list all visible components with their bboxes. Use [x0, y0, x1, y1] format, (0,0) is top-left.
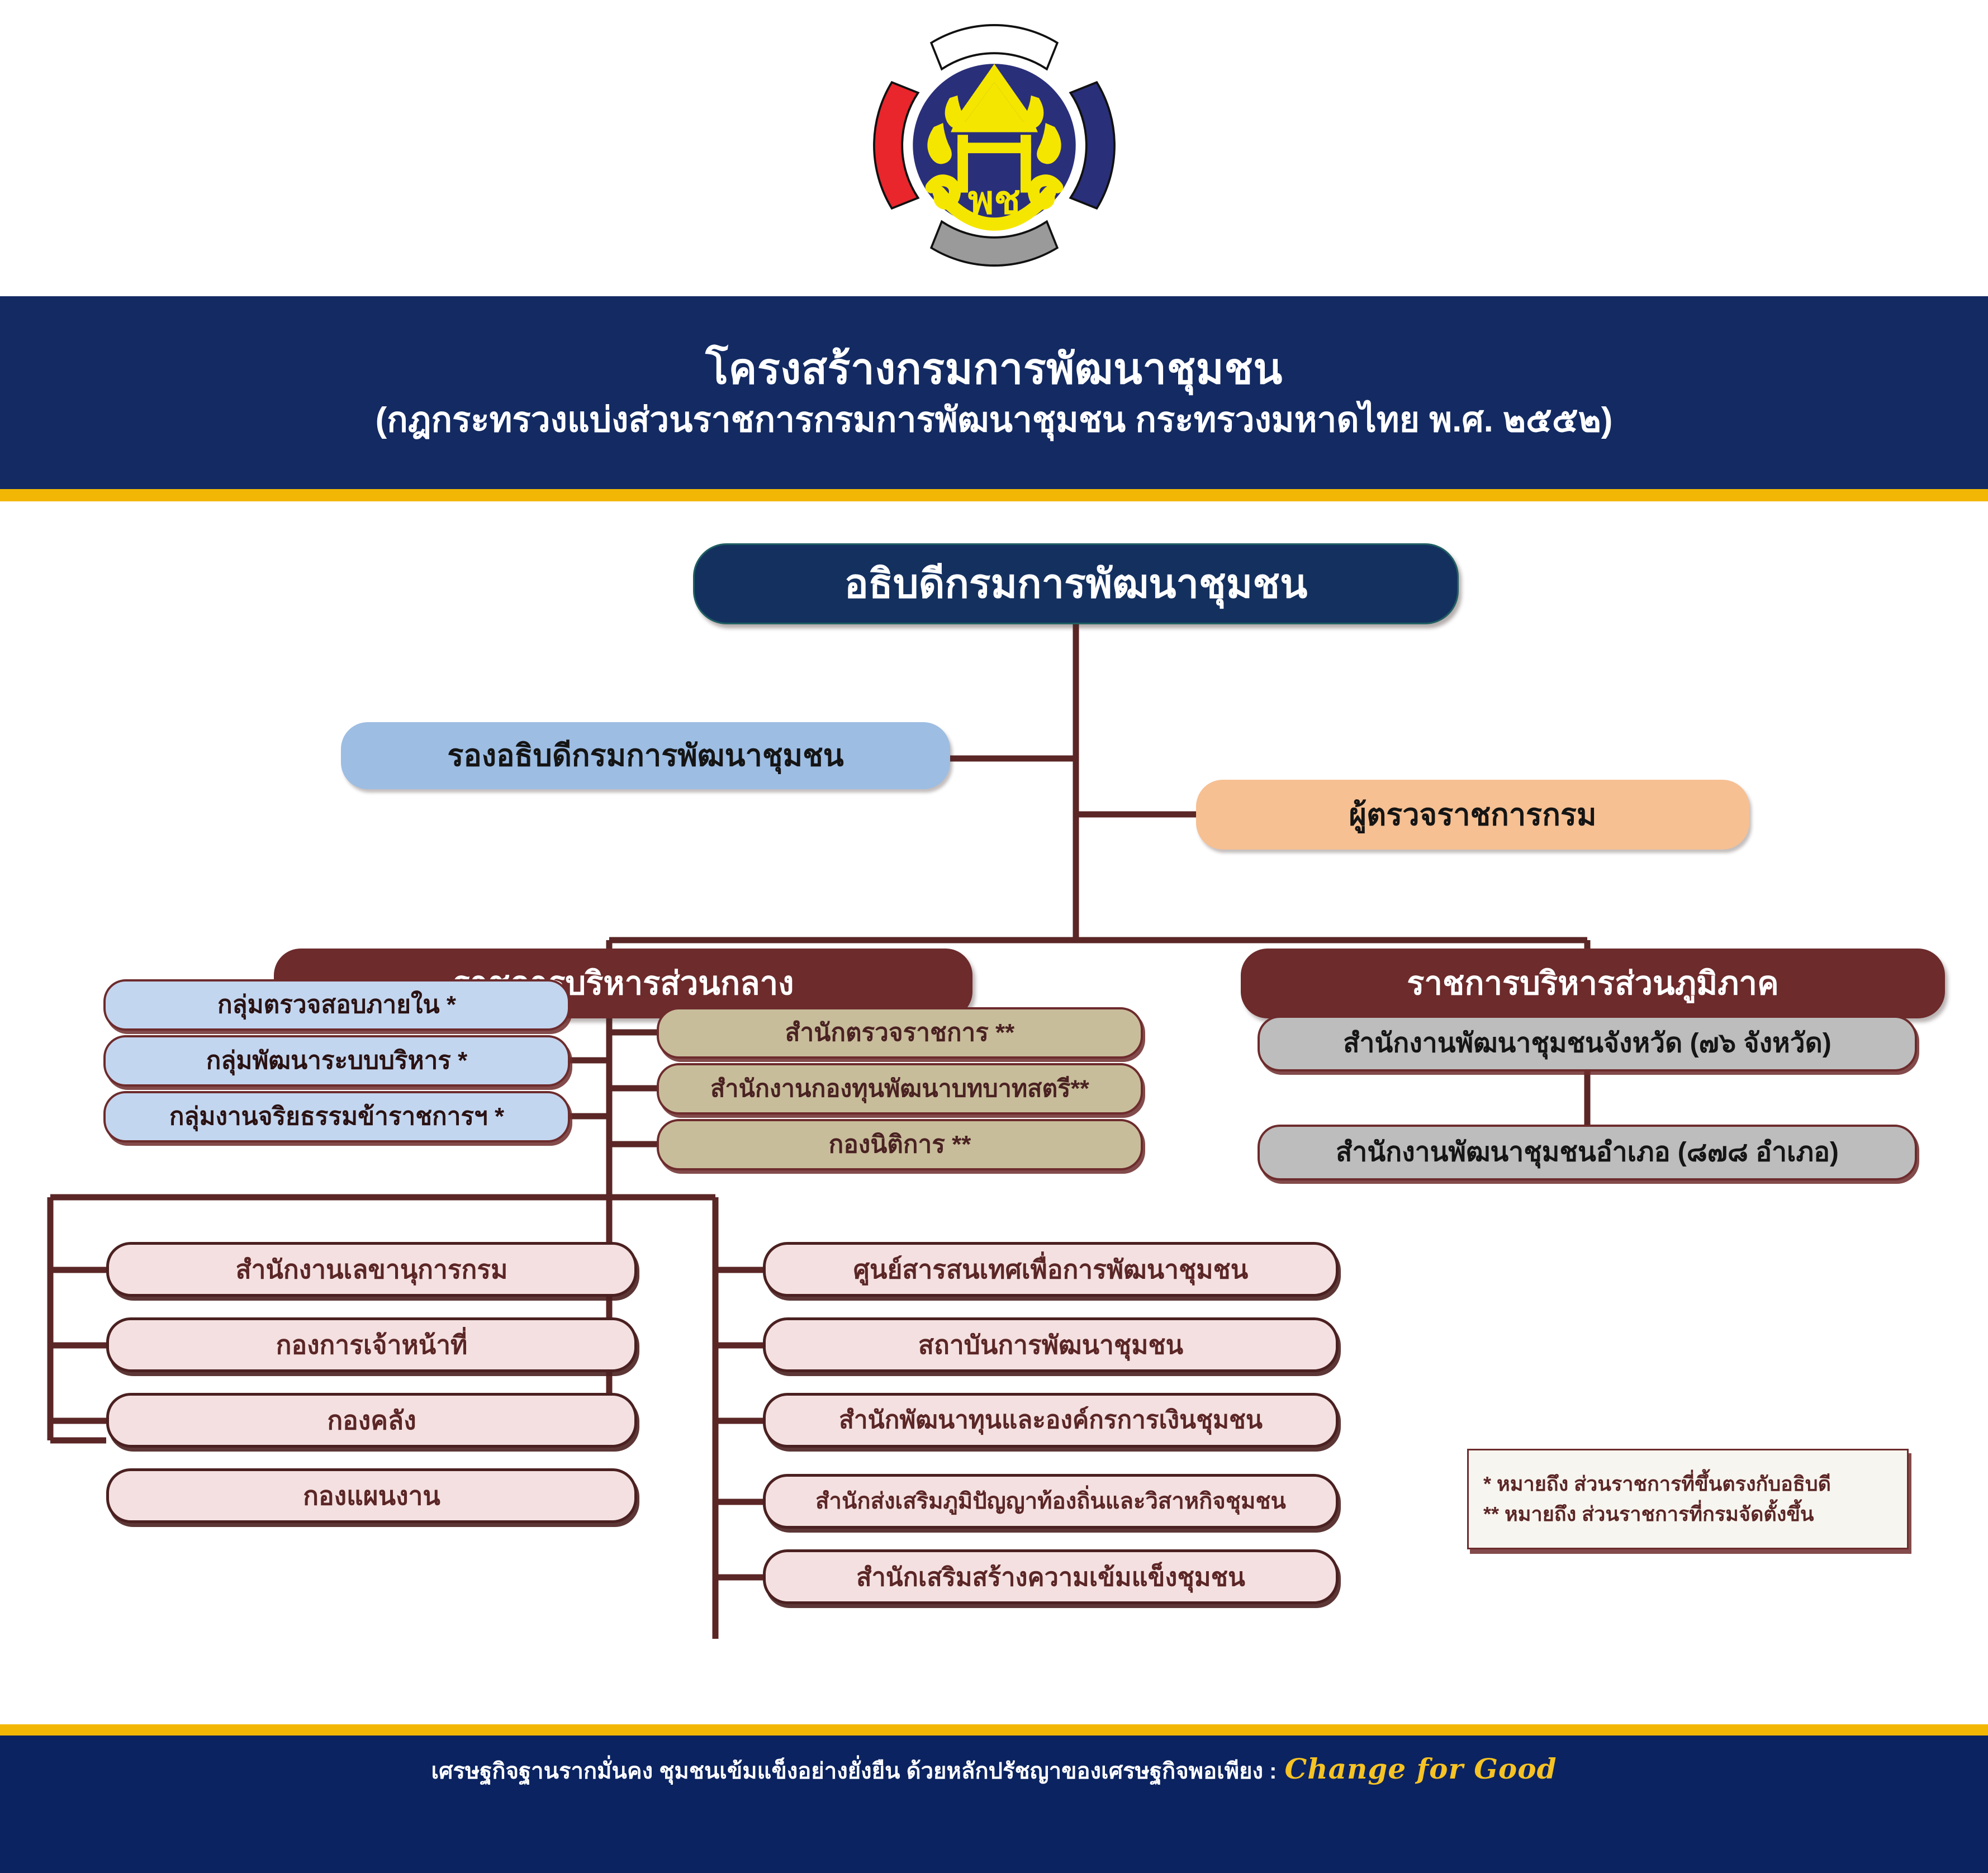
legend-line-double-asterisk: ** หมายถึง ส่วนราชการที่กรมจัดตั้งขึ้น	[1483, 1499, 1814, 1529]
node-civil-servant-ethics-group[interactable]: กลุ่มงานจริยธรรมข้าราชการฯ *	[103, 1091, 570, 1142]
node-information-center-for-cd-label: ศูนย์สารสนเทศเพื่อการพัฒนาชุมชน	[853, 1256, 1248, 1282]
page-title: โครงสร้างกรมการพัฒนาชุมชน	[705, 347, 1283, 392]
node-bureau-of-inspection[interactable]: สำนักตรวจราชการ **	[657, 1007, 1143, 1059]
node-inspector-label: ผู้ตรวจราชการกรม	[1349, 800, 1597, 830]
footer-gold-rule	[0, 1724, 1988, 1736]
node-director-general[interactable]: อธิบดีกรมการพัฒนาชุมชน	[693, 543, 1459, 624]
header-gold-rule	[0, 489, 1988, 501]
node-community-development-institute-label: สถาบันการพัฒนาชุมชน	[918, 1332, 1183, 1358]
svg-text:พช: พช	[967, 177, 1020, 223]
node-deputy-director-general[interactable]: รองอธิบดีกรมการพัฒนาชุมชน	[341, 722, 950, 789]
node-bureau-of-capital-and-community-finance[interactable]: สำนักพัฒนาทุนและองค์กรการเงินชุมชน	[763, 1393, 1339, 1448]
node-community-development-institute[interactable]: สถาบันการพัฒนาชุมชน	[763, 1317, 1339, 1372]
node-provincial-cdd-office-label: สำนักงานพัฒนาชุมชนจังหวัด (๗๖ จังหวัด)	[1343, 1030, 1832, 1057]
node-director-general-label: อธิบดีกรมการพัฒนาชุมชน	[844, 564, 1308, 604]
node-womens-empowerment-fund-office-label: สำนักงานกองทุนพัฒนาบทบาทสตรี**	[710, 1077, 1089, 1101]
node-admin-system-development-group[interactable]: กลุ่มพัฒนาระบบบริหาร *	[103, 1035, 570, 1087]
org-chart-page: พช โครงสร้างกรมการพัฒนาชุมชน (กฎกระทรวงแ…	[0, 0, 1988, 1873]
node-planning-division[interactable]: กองแผนงาน	[106, 1468, 637, 1523]
node-bureau-of-local-wisdom-and-community-enterprise[interactable]: สำนักส่งเสริมภูมิปัญญาท้องถิ่นและวิสาหกิ…	[763, 1474, 1339, 1529]
node-bureau-of-community-strengthening[interactable]: สำนักเสริมสร้างความเข้มแข็งชุมชน	[763, 1549, 1339, 1604]
footer-motto: เศรษฐกิจฐานรากมั่นคง ชุมชนเข้มแข็งอย่างย…	[431, 1753, 1277, 1789]
node-office-of-the-secretary[interactable]: สำนักงานเลขานุการกรม	[106, 1242, 637, 1297]
node-district-cdd-office[interactable]: สำนักงานพัฒนาชุมชนอำเภอ (๘๗๘ อำเภอ)	[1258, 1125, 1917, 1180]
department-logo: พช	[0, 6, 1988, 285]
node-office-of-the-secretary-label: สำนักงานเลขานุการกรม	[236, 1256, 508, 1282]
node-provincial-cdd-office[interactable]: สำนักงานพัฒนาชุมชนจังหวัด (๗๖ จังหวัด)	[1258, 1016, 1917, 1071]
legend-box: * หมายถึง ส่วนราชการที่ขึ้นตรงกับอธิบดี …	[1467, 1449, 1909, 1549]
node-internal-audit-group-label: กลุ่มตรวจสอบภายใน *	[217, 993, 456, 1017]
node-legal-affairs-division[interactable]: กองนิติการ **	[657, 1119, 1143, 1170]
node-district-cdd-office-label: สำนักงานพัฒนาชุมชนอำเภอ (๘๗๘ อำเภอ)	[1336, 1139, 1839, 1166]
node-branch-provincial-label: ราชการบริหารส่วนภูมิภาค	[1407, 968, 1779, 1000]
footer-content: เศรษฐกิจฐานรากมั่นคง ชุมชนเข้มแข็งอย่างย…	[431, 1752, 1557, 1789]
node-civil-servant-ethics-group-label: กลุ่มงานจริยธรรมข้าราชการฯ *	[169, 1104, 504, 1129]
node-bureau-of-inspection-label: สำนักตรวจราชการ **	[785, 1021, 1015, 1045]
page-subtitle: (กฎกระทรวงแบ่งส่วนราชการกรมการพัฒนาชุมชน…	[376, 402, 1613, 438]
node-personnel-division[interactable]: กองการเจ้าหน้าที่	[106, 1317, 637, 1372]
node-womens-empowerment-fund-office[interactable]: สำนักงานกองทุนพัฒนาบทบาทสตรี**	[657, 1063, 1143, 1115]
page-header-banner: โครงสร้างกรมการพัฒนาชุมชน (กฎกระทรวงแบ่ง…	[0, 296, 1988, 489]
legend-line-single-asterisk: * หมายถึง ส่วนราชการที่ขึ้นตรงกับอธิบดี	[1483, 1469, 1831, 1499]
node-branch-provincial-administration[interactable]: ราชการบริหารส่วนภูมิภาค	[1241, 949, 1945, 1018]
page-footer-banner: เศรษฐกิจฐานรากมั่นคง ชุมชนเข้มแข็งอย่างย…	[0, 1736, 1988, 1873]
node-information-center-for-cd[interactable]: ศูนย์สารสนเทศเพื่อการพัฒนาชุมชน	[763, 1242, 1339, 1297]
node-admin-system-development-group-label: กลุ่มพัฒนาระบบบริหาร *	[206, 1049, 468, 1073]
node-bureau-of-local-wisdom-and-community-enterprise-label: สำนักส่งเสริมภูมิปัญญาท้องถิ่นและวิสาหกิ…	[815, 1490, 1286, 1512]
node-personnel-division-label: กองการเจ้าหน้าที่	[276, 1332, 468, 1358]
community-development-emblem-icon: พช	[863, 14, 1126, 277]
node-finance-division-label: กองคลัง	[327, 1407, 416, 1433]
node-department-inspector[interactable]: ผู้ตรวจราชการกรม	[1196, 780, 1749, 850]
node-bureau-of-capital-and-community-finance-label: สำนักพัฒนาทุนและองค์กรการเงินชุมชน	[839, 1408, 1263, 1433]
org-chart: อธิบดีกรมการพัฒนาชุมชน รองอธิบดีกรมการพั…	[0, 501, 1988, 1724]
node-planning-division-label: กองแผนงาน	[303, 1483, 440, 1509]
node-bureau-of-community-strengthening-label: สำนักเสริมสร้างความเข้มแข็งชุมชน	[856, 1564, 1245, 1590]
node-internal-audit-group[interactable]: กลุ่มตรวจสอบภายใน *	[103, 979, 570, 1031]
footer-slogan: Change for Good	[1285, 1752, 1557, 1785]
node-deputy-label: รองอธิบดีกรมการพัฒนาชุมชน	[447, 741, 843, 771]
node-finance-division[interactable]: กองคลัง	[106, 1393, 637, 1448]
node-legal-affairs-division-label: กองนิติการ **	[829, 1132, 971, 1157]
